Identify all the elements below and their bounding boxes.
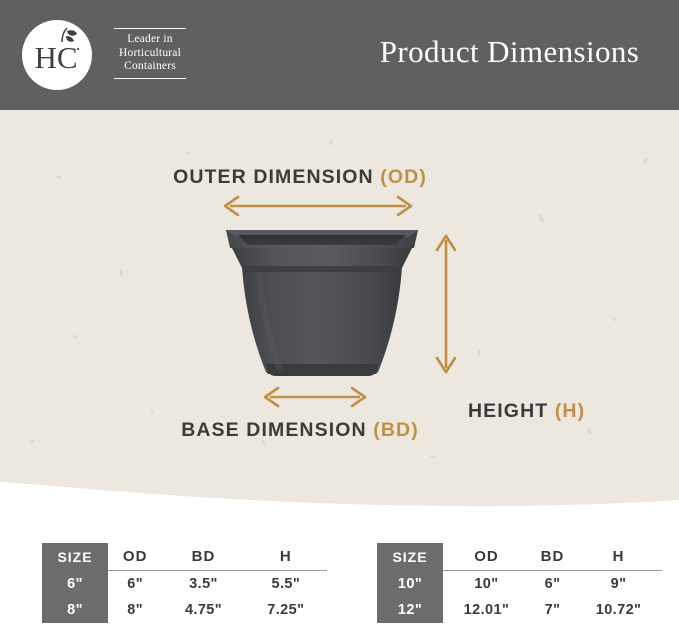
header-bar: HC Leader in Horticultural Containers Pr… [0, 0, 679, 110]
svg-text:HC: HC [34, 40, 77, 75]
cell-od: 6" [108, 571, 162, 598]
column-header-size: SIZE [42, 543, 108, 571]
outer-dimension-label: OUTER DIMENSION (OD) [0, 166, 600, 189]
outer-dimension-arrow-icon [218, 194, 418, 218]
cell-bd: 7" [530, 597, 575, 623]
product-dimensions-infographic: HC Leader in Horticultural Containers Pr… [0, 0, 679, 636]
tagline-line-1: Leader in [106, 33, 194, 47]
base-dimension-tag: (BD) [373, 419, 419, 441]
cell-od: 12.01" [443, 597, 530, 623]
dimension-diagram: OUTER DIMENSION (OD) [0, 110, 679, 510]
cell-od: 8" [108, 597, 162, 623]
table-row: 10" 10" 6" 9" [377, 571, 662, 598]
cell-h: 10.72" [575, 597, 662, 623]
size-table-left: SIZE OD BD H 6" 6" 3.5" 5.5" 8" 8" 4.75"… [42, 543, 327, 623]
cell-od: 10" [443, 571, 530, 598]
column-header-h: H [575, 543, 662, 571]
logo-hc-monogram-icon: HC [22, 20, 92, 90]
column-header-od: OD [108, 543, 162, 571]
cell-size: 8" [42, 597, 108, 623]
cell-h: 5.5" [245, 571, 327, 598]
tagline-line-3: Containers [106, 60, 194, 74]
base-dimension-text: BASE DIMENSION [181, 419, 367, 441]
column-header-bd: BD [162, 543, 244, 571]
base-dimension-arrow-icon [260, 385, 370, 409]
cell-size: 12" [377, 597, 443, 623]
tagline-rule-top [114, 28, 186, 29]
logo-tagline: Leader in Horticultural Containers [106, 28, 194, 79]
cell-size: 10" [377, 571, 443, 598]
table-row: 12" 12.01" 7" 10.72" [377, 597, 662, 623]
tagline-rule-bottom [114, 78, 186, 79]
cell-size: 6" [42, 571, 108, 598]
cell-h: 9" [575, 571, 662, 598]
table-row: 6" 6" 3.5" 5.5" [42, 571, 327, 598]
table-header-row: SIZE OD BD H [42, 543, 327, 571]
cell-bd: 3.5" [162, 571, 244, 598]
column-header-size: SIZE [377, 543, 443, 571]
cell-bd: 6" [530, 571, 575, 598]
table-row: 8" 8" 4.75" 7.25" [42, 597, 327, 623]
cell-h: 7.25" [245, 597, 327, 623]
column-header-od: OD [443, 543, 530, 571]
height-arrow-icon [434, 230, 458, 378]
tagline-line-2: Horticultural [106, 47, 194, 61]
outer-dimension-tag: (OD) [380, 166, 427, 188]
outer-dimension-text: OUTER DIMENSION [173, 166, 374, 188]
column-header-bd: BD [530, 543, 575, 571]
base-dimension-label: BASE DIMENSION (BD) [0, 419, 600, 442]
brand-logo: HC Leader in Horticultural Containers [18, 16, 193, 94]
table-header-row: SIZE OD BD H [377, 543, 662, 571]
cell-bd: 4.75" [162, 597, 244, 623]
page-title: Product Dimensions [340, 0, 679, 110]
square-planter-product-image [222, 222, 422, 382]
size-table-right: SIZE OD BD H 10" 10" 6" 9" 12" 12.01" 7"… [377, 543, 662, 623]
column-header-h: H [245, 543, 327, 571]
